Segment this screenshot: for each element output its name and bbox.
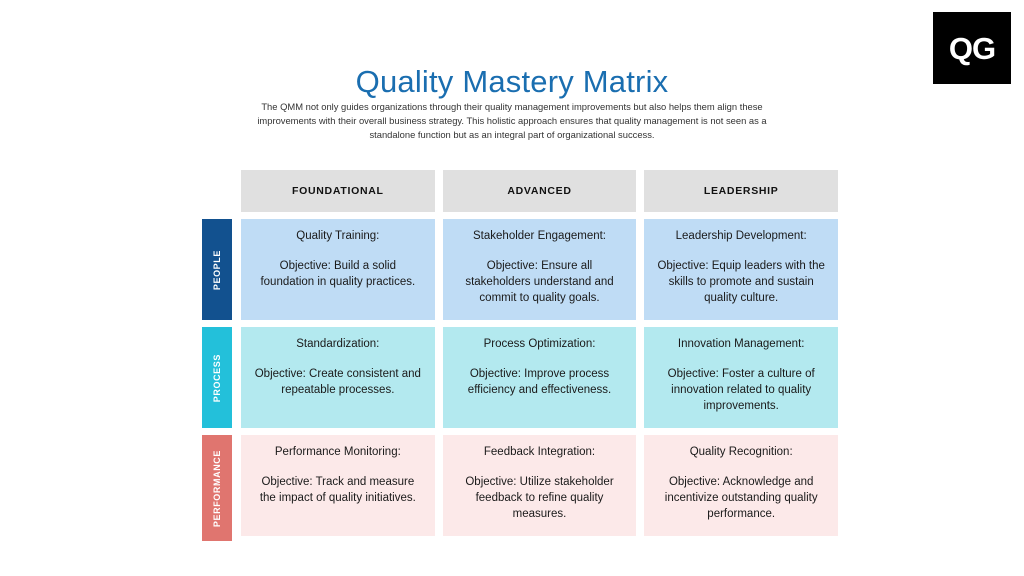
cell-people-advanced: Stakeholder Engagement: Objective: Ensur… <box>443 219 637 320</box>
row-label-performance: PERFORMANCE <box>202 435 232 541</box>
page-subtitle: The QMM not only guides organizations th… <box>246 100 778 141</box>
brand-logo-text: QG <box>949 33 995 64</box>
column-header-foundational: FOUNDATIONAL <box>241 170 435 212</box>
row-label-performance-text: PERFORMANCE <box>212 450 222 527</box>
cell-process-leadership: Innovation Management: Objective: Foster… <box>644 327 838 428</box>
corner-spacer <box>202 170 232 212</box>
cell-title: Quality Training: <box>253 229 423 245</box>
page-title: Quality Mastery Matrix <box>0 65 1024 99</box>
cell-process-foundational: Standardization: Objective: Create consi… <box>241 327 435 428</box>
cell-title: Process Optimization: <box>455 337 625 353</box>
cell-body: Objective: Foster a culture of innovatio… <box>656 367 826 415</box>
matrix-header-row: FOUNDATIONAL ADVANCED LEADERSHIP <box>202 170 838 212</box>
cell-title: Standardization: <box>253 337 423 353</box>
cell-people-foundational: Quality Training: Objective: Build a sol… <box>241 219 435 320</box>
cell-title: Innovation Management: <box>656 337 826 353</box>
cell-body: Objective: Utilize stakeholder feedback … <box>455 475 625 523</box>
cell-body: Objective: Track and measure the impact … <box>253 475 423 507</box>
column-header-advanced: ADVANCED <box>443 170 637 212</box>
cell-title: Quality Recognition: <box>656 445 826 461</box>
cell-title: Feedback Integration: <box>455 445 625 461</box>
column-header-leadership: LEADERSHIP <box>644 170 838 212</box>
cell-body: Objective: Acknowledge and incentivize o… <box>656 475 826 523</box>
row-label-process-text: PROCESS <box>212 354 222 402</box>
matrix-row-process: PROCESS Standardization: Objective: Crea… <box>202 327 838 428</box>
cell-title: Leadership Development: <box>656 229 826 245</box>
cell-performance-advanced: Feedback Integration: Objective: Utilize… <box>443 435 637 536</box>
matrix-row-people: PEOPLE Quality Training: Objective: Buil… <box>202 219 838 320</box>
row-label-process: PROCESS <box>202 327 232 428</box>
cell-performance-foundational: Performance Monitoring: Objective: Track… <box>241 435 435 536</box>
cell-body: Objective: Create consistent and repeata… <box>253 367 423 399</box>
cell-performance-leadership: Quality Recognition: Objective: Acknowle… <box>644 435 838 536</box>
row-label-people: PEOPLE <box>202 219 232 320</box>
cell-body: Objective: Improve process efficiency an… <box>455 367 625 399</box>
cell-body: Objective: Build a solid foundation in q… <box>253 259 423 291</box>
cell-body: Objective: Equip leaders with the skills… <box>656 259 826 307</box>
row-label-people-text: PEOPLE <box>212 250 222 290</box>
matrix-row-performance: PERFORMANCE Performance Monitoring: Obje… <box>202 435 838 541</box>
cell-people-leadership: Leadership Development: Objective: Equip… <box>644 219 838 320</box>
quality-mastery-matrix: FOUNDATIONAL ADVANCED LEADERSHIP PEOPLE … <box>202 170 838 541</box>
cell-body: Objective: Ensure all stakeholders under… <box>455 259 625 307</box>
cell-title: Stakeholder Engagement: <box>455 229 625 245</box>
cell-process-advanced: Process Optimization: Objective: Improve… <box>443 327 637 428</box>
cell-title: Performance Monitoring: <box>253 445 423 461</box>
